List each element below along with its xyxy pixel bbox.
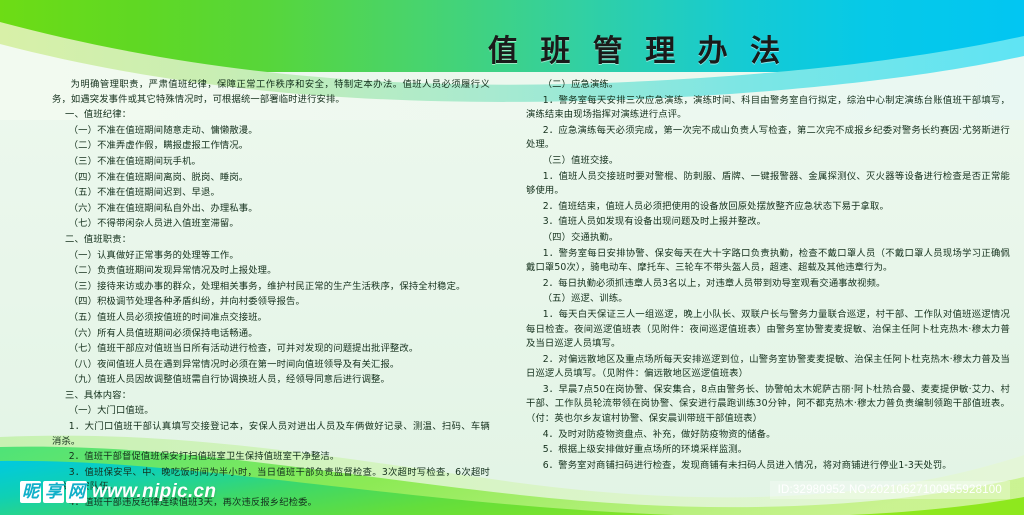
right-paragraph: 4．及时对防疫物资盘点、补充，做好防疫物资的储备。 bbox=[526, 428, 1010, 443]
left-paragraph: （一）大门口值班。 bbox=[52, 404, 490, 419]
right-paragraph: 2．应急演练每天必须完成，第一次完不成山负责人写检查，第二次完不成报乡纪委对警务… bbox=[526, 124, 1010, 153]
right-paragraph: （五）巡逻、训练。 bbox=[526, 292, 1010, 307]
right-paragraph: 1．每天白天保证三人一组巡逻，晚上小队长、双联户长与警务力量联合巡逻，村干部、工… bbox=[526, 308, 1010, 352]
right-paragraph: 2．每日执勤必须抓违章人员3名以上，对违章人员带到劝导室观看交通事故视频。 bbox=[526, 277, 1010, 292]
right-paragraph: 3．早晨7点50在岗协警、保安集合，8点由警务长、协警帕太木妮萨古丽·阿卜杜热合… bbox=[526, 383, 1010, 427]
right-paragraph: 5．根据上级安排做好重点场所的环境采样监测。 bbox=[526, 443, 1010, 458]
left-paragraph: 4．值班干部违反纪律连续值班3天，再次违反报乡纪检委。 bbox=[52, 496, 490, 511]
left-paragraph: 二、值班职责： bbox=[52, 233, 490, 248]
right-paragraph: 1．值班人员交接班时要对警棍、防刺服、盾牌、一键报警器、金属探测仪、灭火器等设备… bbox=[526, 170, 1010, 199]
left-paragraph: 3．值班保安早、中、晚吃饭时间为半小时，当日值班干部负责监督检查。3次超时写检查… bbox=[52, 466, 490, 495]
left-paragraph: （三）不准在值班期间玩手机。 bbox=[52, 155, 490, 170]
left-paragraph: （四）积极调节处理各种矛盾纠纷，并向村委领导报告。 bbox=[52, 295, 490, 310]
left-paragraph: （六）不准在值班期间私自外出、办理私事。 bbox=[52, 202, 490, 217]
left-paragraph: 2．值班干部督促值班保安打扫值班室卫生保持值班室干净整洁。 bbox=[52, 450, 490, 465]
right-paragraph: 2．对偏远散地区及重点场所每天安排巡逻到位，山警务室协警麦麦提敏、治保主任阿卜杜… bbox=[526, 353, 1010, 382]
left-paragraph: （四）不准在值班期间离岗、脱岗、睡岗。 bbox=[52, 171, 490, 186]
left-paragraph: （五）不准在值班期间迟到、早退。 bbox=[52, 186, 490, 201]
left-paragraph: （五）值班人员必须按值班的时间准点交接班。 bbox=[52, 311, 490, 326]
left-paragraph: （一）不准在值班期间随意走动、慵懒散漫。 bbox=[52, 124, 490, 139]
left-paragraph: （一）认真做好正常事务的处理等工作。 bbox=[52, 249, 490, 264]
left-paragraph: （二）不准弄虚作假，瞒报虚报工作情况。 bbox=[52, 139, 490, 154]
left-paragraph: 一、值班纪律： bbox=[52, 108, 490, 123]
right-paragraph: （二）应急演练。 bbox=[526, 78, 1010, 93]
content-columns: 为明确管理职责，严肃值班纪律，保障正常工作秩序和安全，特制定本办法。值班人员必须… bbox=[0, 72, 1024, 515]
right-text-column: （二）应急演练。1．警务室每天安排三次应急演练，演练时间、科目由警务室自行拟定，… bbox=[512, 72, 1024, 515]
right-paragraph: 3．值班人员如发现有设备出现问题及时上报并整改。 bbox=[526, 215, 1010, 230]
right-paragraph: 1．警务室每日安排协警、保安每天在大十字路口负责执勤，检查不戴口罩人员（不戴口罩… bbox=[526, 247, 1010, 276]
left-paragraph: （三）接待来访或办事的群众，处理相关事务，维护村民正常的生产生活秩序，保持全村稳… bbox=[52, 280, 490, 295]
left-text-column: 为明确管理职责，严肃值班纪律，保障正常工作秩序和安全，特制定本办法。值班人员必须… bbox=[0, 72, 512, 515]
right-paragraph: 6．警务室对商铺扫码进行检查，发现商铺有未扫码人员进入情况，将对商铺进行停业1-… bbox=[526, 459, 1010, 474]
right-paragraph: （三）值班交接。 bbox=[526, 154, 1010, 169]
left-paragraph: 1．大门口值班干部认真填写交接登记本，安保人员对进出人员及车俩做好记录、测温、扫… bbox=[52, 420, 490, 449]
poster-canvas: 值 班 管 理 办 法 为明确管理职责，严肃值班纪律，保障正常工作秩序和安全，特… bbox=[0, 0, 1024, 515]
left-paragraph: （七）值班干部应对值班当日所有活动进行检查，可并对发现的问题提出批评整改。 bbox=[52, 342, 490, 357]
right-paragraph: 2．值班结束，值班人员必须把使用的设备放回原处摆放整齐应急状态下易于拿取。 bbox=[526, 200, 1010, 215]
left-paragraph: 为明确管理职责，严肃值班纪律，保障正常工作秩序和安全，特制定本办法。值班人员必须… bbox=[52, 78, 490, 107]
left-paragraph: （九）值班人员因故调整值班需自行协调换班人员，经领导同意后进行调整。 bbox=[52, 373, 490, 388]
left-paragraph: （六）所有人员值班期间必须保持电话畅通。 bbox=[52, 327, 490, 342]
left-paragraph: （八）夜间值班人员在遇到异常情况时必须在第一时间向值班领导及有关汇报。 bbox=[52, 358, 490, 373]
page-title: 值 班 管 理 办 法 bbox=[125, 26, 1024, 70]
left-paragraph: （二）负责值班期间发现异常情况及时上报处理。 bbox=[52, 264, 490, 279]
image-id-tag: ID:32980952 NO:20210627100955928100 bbox=[770, 481, 1010, 499]
right-paragraph: 1．警务室每天安排三次应急演练，演练时间、科目由警务室自行拟定，综治中心制定演练… bbox=[526, 94, 1010, 123]
left-paragraph: （七）不得带闲杂人员进入值班室滞留。 bbox=[52, 217, 490, 232]
right-paragraph: （四）交通执勤。 bbox=[526, 231, 1010, 246]
left-paragraph: 三、具体内容： bbox=[52, 389, 490, 404]
